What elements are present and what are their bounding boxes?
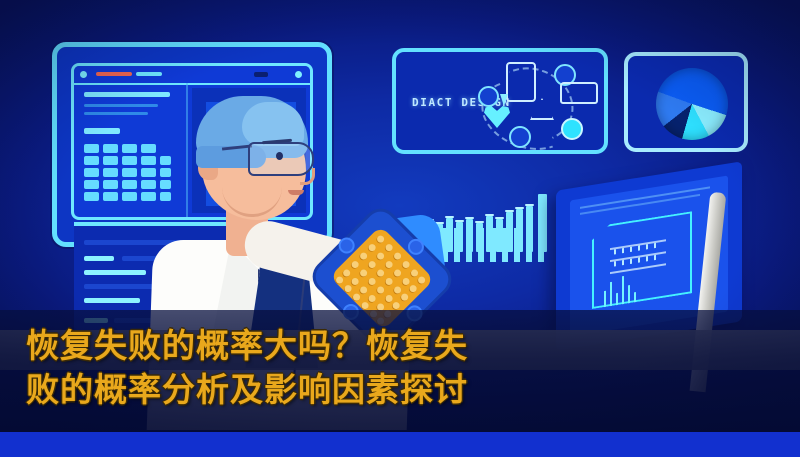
page-title: 恢复失败的概率大吗？恢复失 败的概率分析及影响因素探讨	[0, 324, 800, 412]
page-title-line-2: 败的概率分析及影响因素探讨	[26, 368, 774, 412]
bottom-color-band	[0, 432, 800, 457]
screenshot-canvas: DIACT DESIGN	[0, 0, 800, 457]
page-title-line-1: 恢复失败的概率大吗？恢复失	[26, 324, 774, 368]
